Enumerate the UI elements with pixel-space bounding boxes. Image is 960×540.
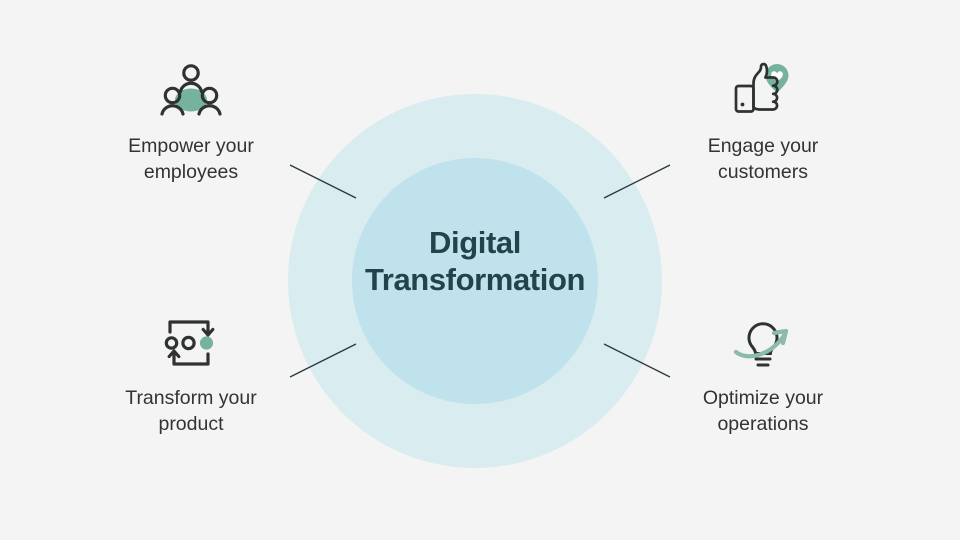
node-label-line2: operations	[648, 412, 878, 438]
node-label-line1: Transform your	[76, 386, 306, 412]
node-transform-product[interactable]: Transform your product	[76, 312, 306, 438]
node-label-line2: customers	[648, 160, 878, 186]
node-engage-customers[interactable]: Engage your customers	[648, 60, 878, 186]
node-label-engage-customers: Engage your customers	[648, 134, 878, 186]
node-label-line2: employees	[76, 160, 306, 186]
center-title-line2: Transformation	[330, 262, 620, 299]
thumbs-up-heart-bubble-icon	[648, 60, 878, 122]
lightbulb-orbit-arrow-icon	[648, 312, 878, 374]
node-label-line2: product	[76, 412, 306, 438]
node-label-transform-product: Transform your product	[76, 386, 306, 438]
diagram-canvas: Digital Transformation Empower	[0, 0, 960, 540]
node-label-line1: Engage your	[648, 134, 878, 160]
cycle-arrows-dots-icon	[76, 312, 306, 374]
node-label-optimize-operations: Optimize your operations	[648, 386, 878, 438]
people-group-icon	[76, 60, 306, 122]
node-label-empower-employees: Empower your employees	[76, 134, 306, 186]
center-title-line1: Digital	[330, 225, 620, 262]
node-empower-employees[interactable]: Empower your employees	[76, 60, 306, 186]
node-label-line1: Empower your	[76, 134, 306, 160]
node-label-line1: Optimize your	[648, 386, 878, 412]
center-title: Digital Transformation	[330, 225, 620, 298]
node-optimize-operations[interactable]: Optimize your operations	[648, 312, 878, 438]
